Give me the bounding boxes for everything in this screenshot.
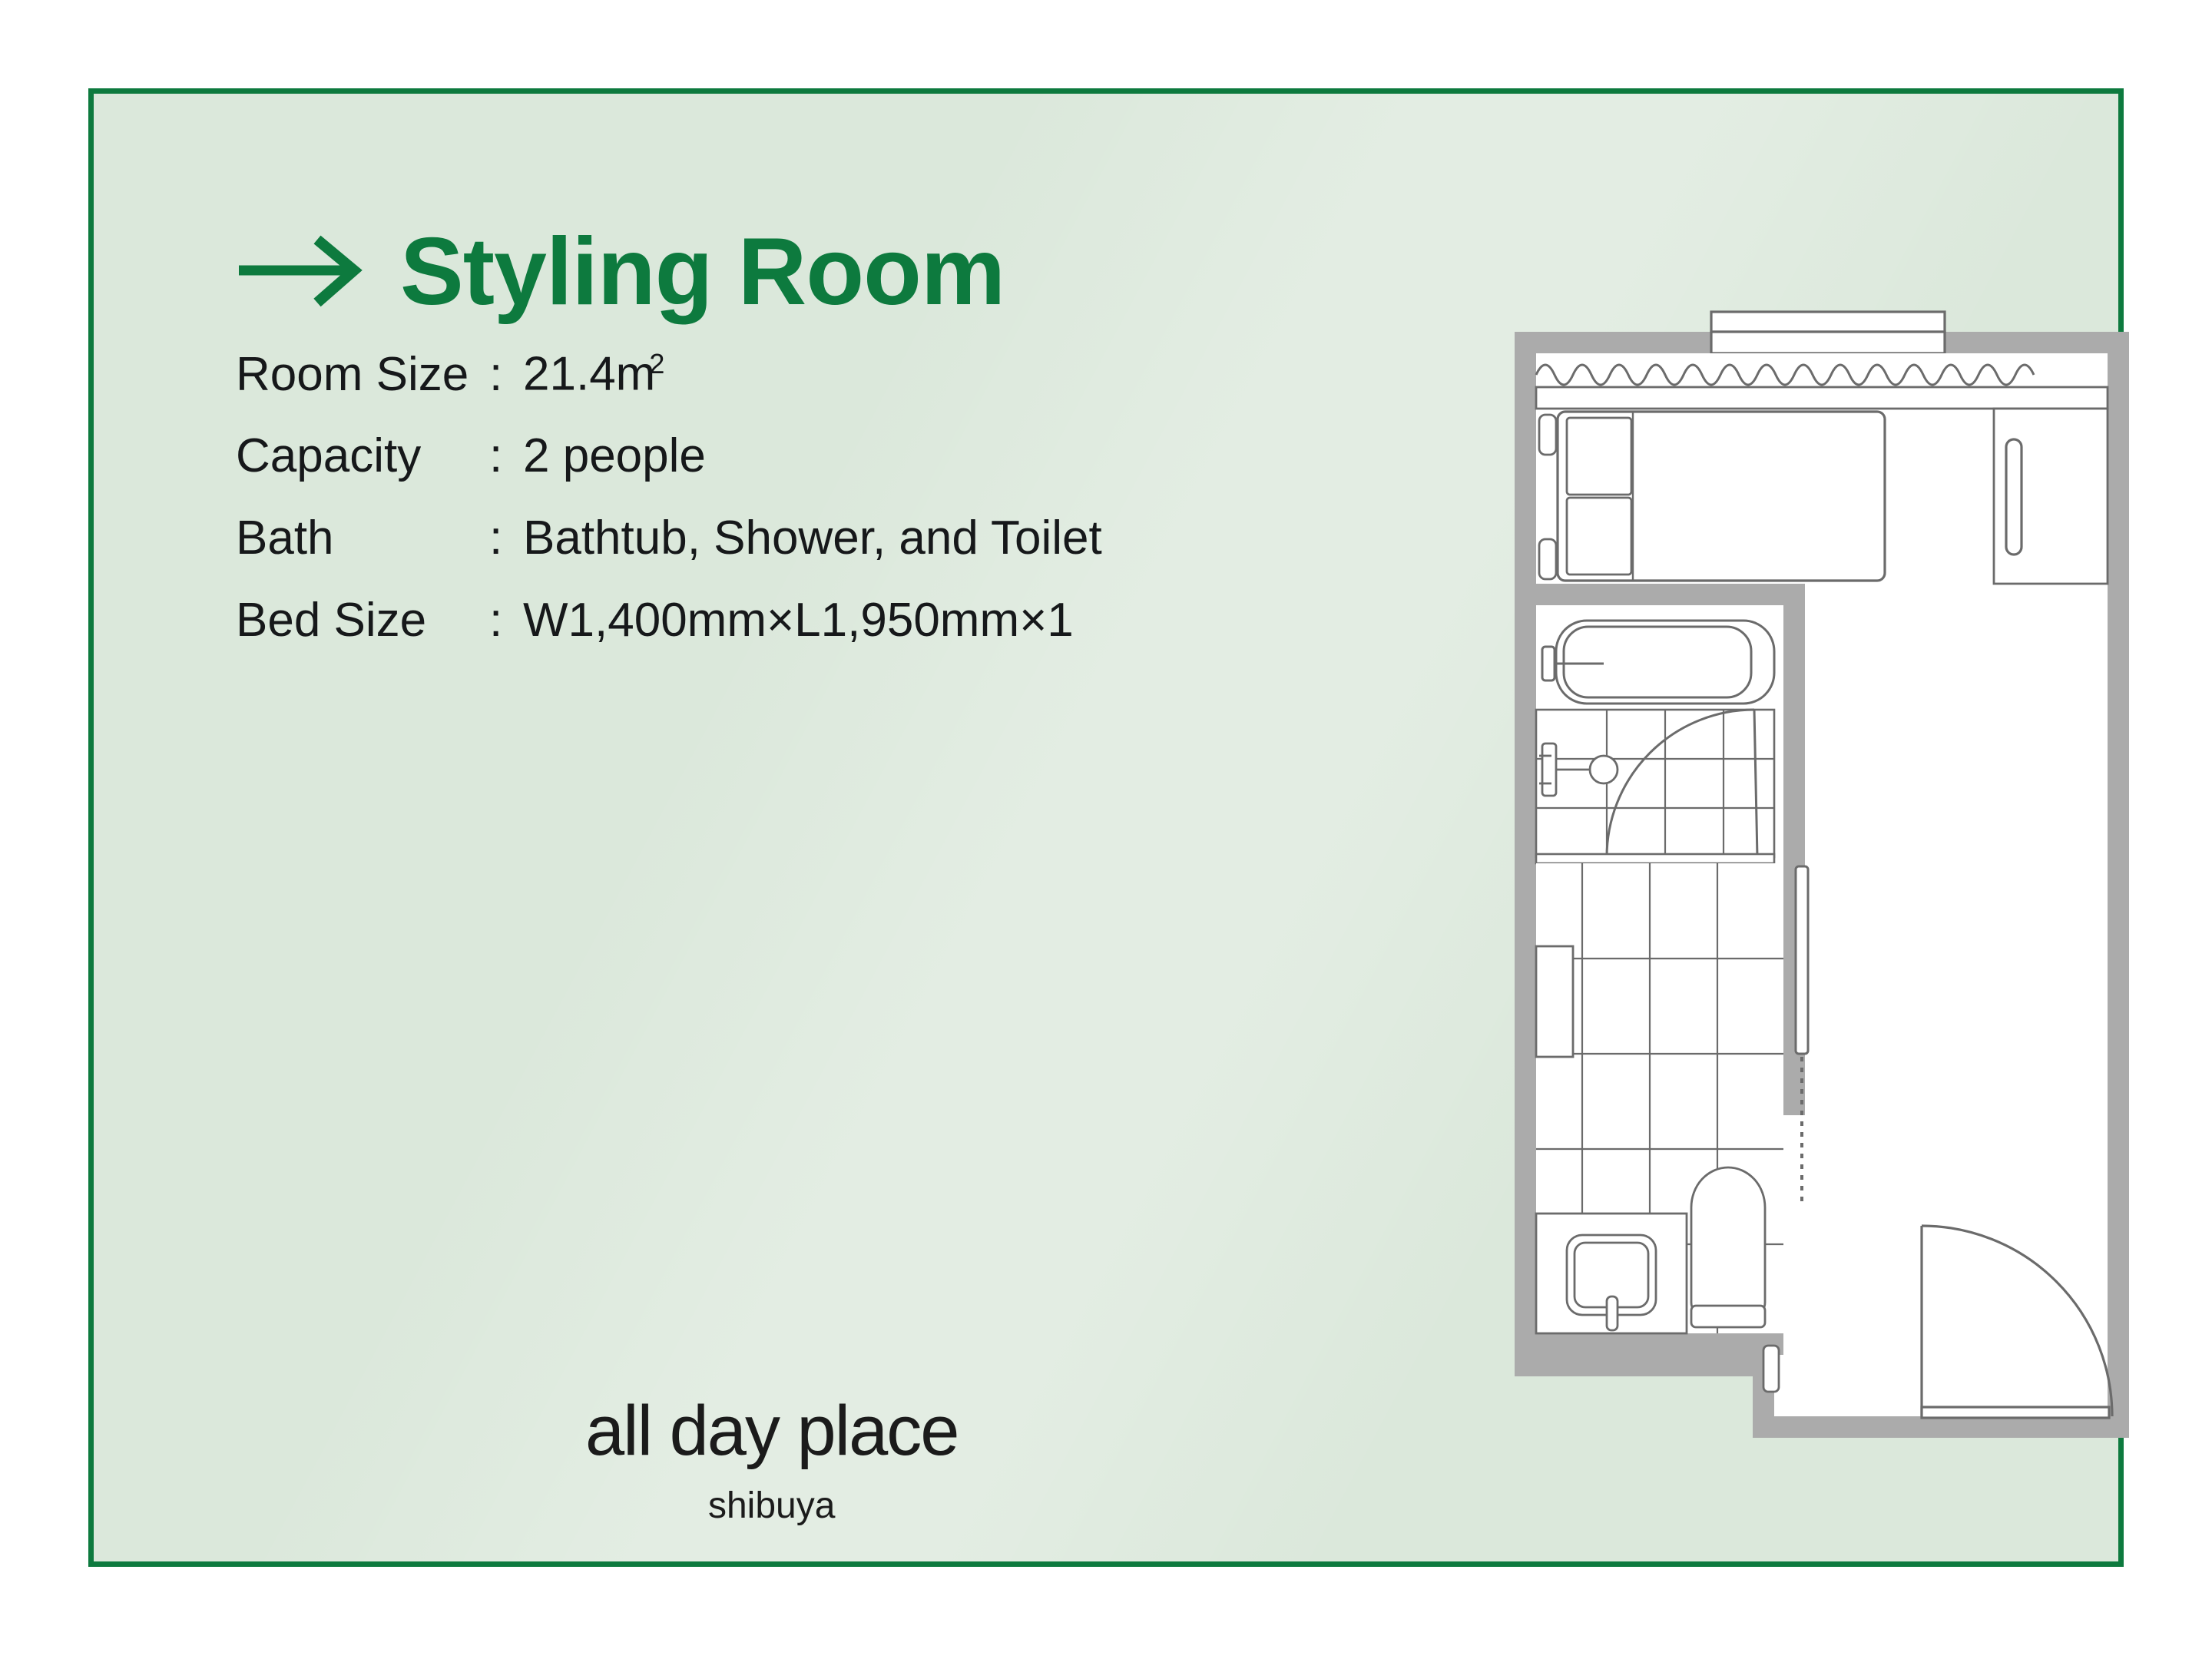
room-info-card: Styling Room Room Size : 21.4m2 Capacity…	[88, 88, 2124, 1567]
bathroom-door-handle	[1763, 1346, 1779, 1392]
spec-colon: :	[489, 351, 523, 399]
spec-label: Bath	[236, 515, 489, 562]
spec-value: 21.4m2	[523, 350, 1388, 399]
spec-list: Room Size : 21.4m2 Capacity : 2 people B…	[236, 350, 1388, 679]
spec-colon: :	[489, 432, 523, 480]
floor-plan	[1484, 270, 2129, 1469]
bathtub	[1556, 621, 1774, 704]
spec-label: Capacity	[236, 432, 489, 480]
spec-row-capacity: Capacity : 2 people	[236, 432, 1388, 515]
spec-row-bath: Bath : Bathtub, Shower, and Toilet	[236, 515, 1388, 597]
logo-location: shibuya	[585, 1488, 958, 1525]
spec-value: 2 people	[523, 432, 1388, 480]
page-title-row: Styling Room	[236, 224, 1388, 320]
spec-value-superscript: 2	[649, 348, 664, 379]
spec-colon: :	[489, 515, 523, 562]
spec-colon: :	[489, 597, 523, 644]
bathroom-door-jamb	[1783, 836, 1805, 866]
page-title: Styling Room	[400, 224, 1005, 320]
window	[1711, 312, 1945, 353]
spec-row-bed-size: Bed Size : W1,400mm×L1,950mm×1	[236, 597, 1388, 679]
arrow-right-icon	[236, 233, 366, 311]
bathroom-door-jamb-lower	[1783, 1054, 1805, 1115]
window-ledge	[1536, 387, 2108, 409]
shower-threshold	[1536, 854, 1774, 863]
spec-row-room-size: Room Size : 21.4m2	[236, 350, 1388, 432]
sliding-door	[1796, 866, 1808, 1054]
curtain	[1536, 353, 2108, 387]
spec-value-text: 21.4m	[523, 348, 655, 401]
spec-value: Bathtub, Shower, and Toilet	[523, 515, 1388, 562]
brand-logo: all day place shibuya	[585, 1396, 958, 1525]
logo-name: all day place	[585, 1396, 958, 1466]
info-panel: Styling Room Room Size : 21.4m2 Capacity…	[236, 224, 1388, 679]
bedroom-partition-wall	[1536, 584, 1805, 605]
bathroom-lower-wall	[1536, 1333, 1783, 1355]
spec-label: Room Size	[236, 351, 489, 399]
toilet	[1691, 1167, 1765, 1327]
shower	[1536, 710, 1774, 857]
wardrobe-rail	[2006, 439, 2022, 555]
spec-value: W1,400mm×L1,950mm×1	[523, 597, 1388, 644]
spec-label: Bed Size	[236, 597, 489, 644]
mirror	[1536, 946, 1573, 1057]
